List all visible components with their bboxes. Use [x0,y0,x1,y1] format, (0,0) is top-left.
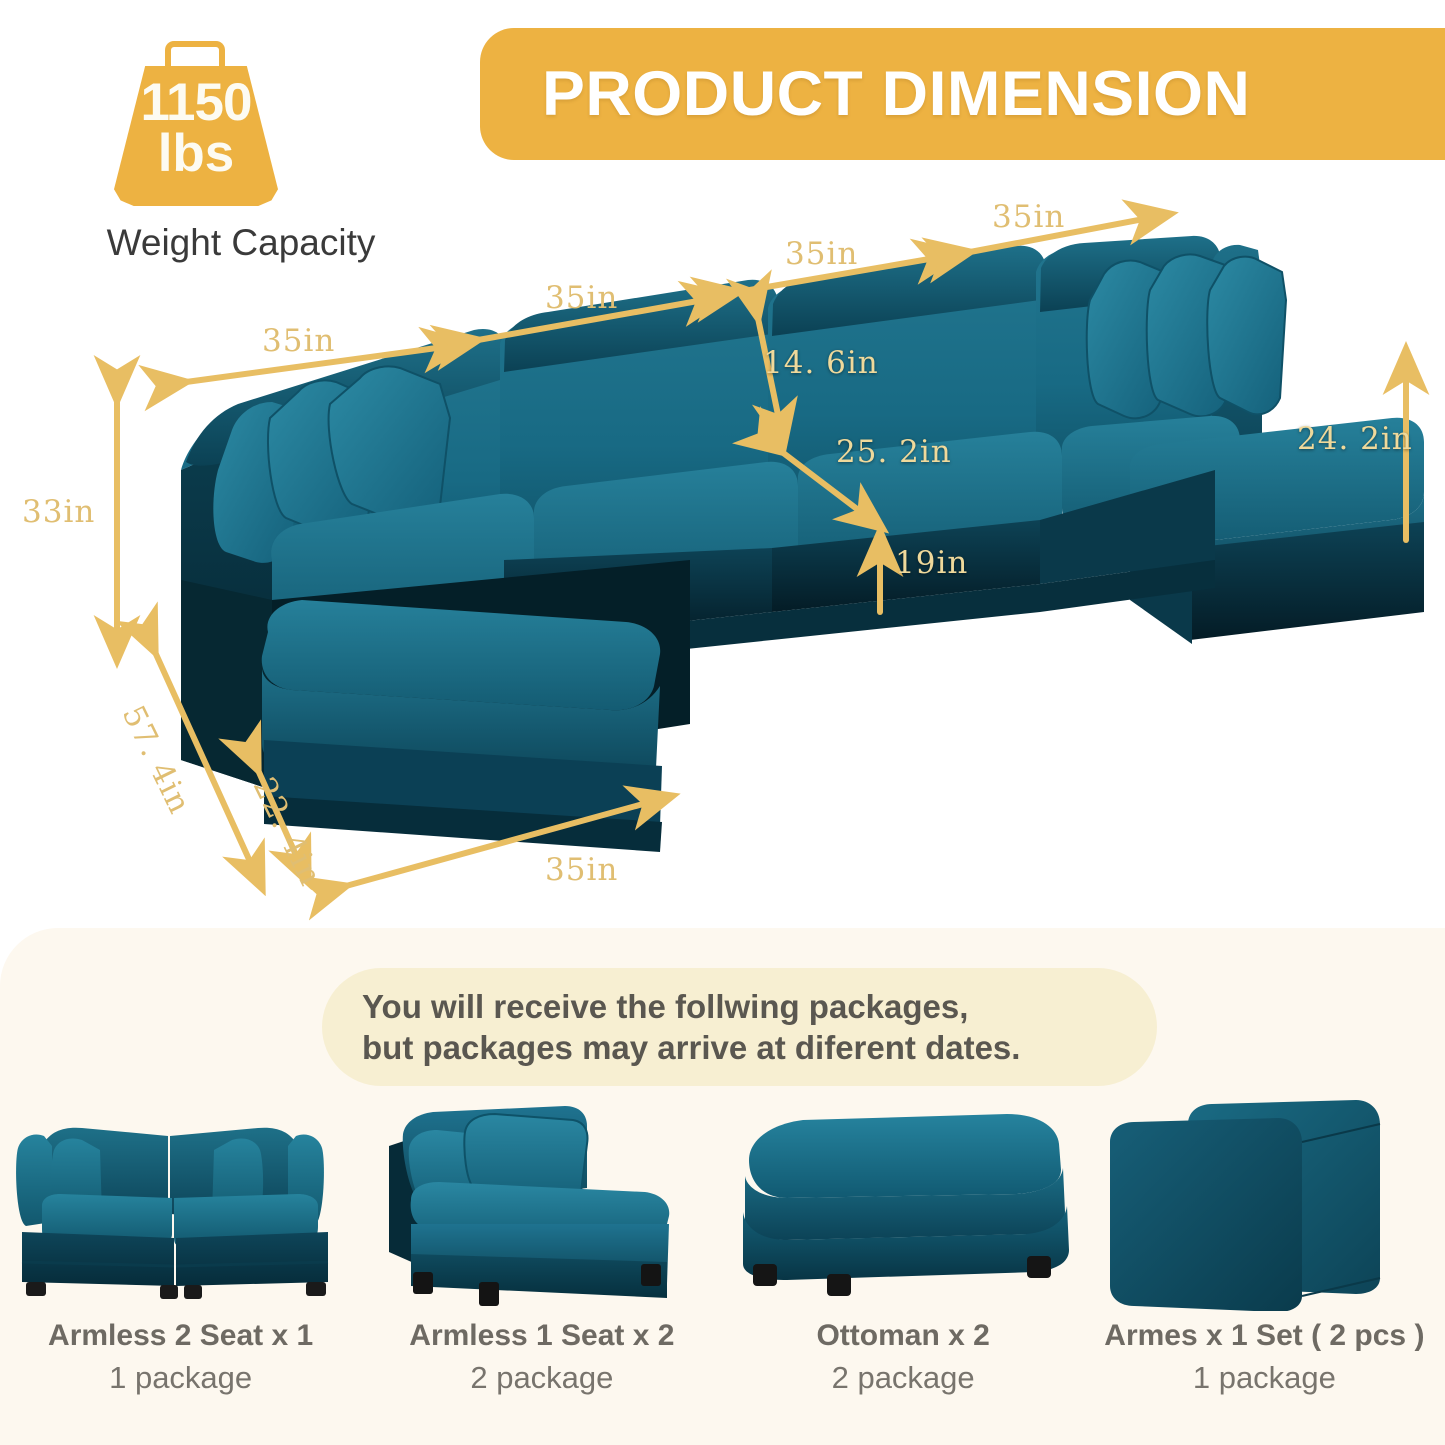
weight-capacity-unit: lbs [106,128,286,180]
dim-back-right-module-width: 35in [992,199,1065,235]
package-thumbnail-list: Armless 2 Seat x 1 1 package [0,1096,1445,1436]
weight-capacity-caption: Weight Capacity [56,222,426,264]
package-title: Armes x 1 Set ( 2 pcs ) [1104,1319,1424,1353]
package-item-arms: Armes x 1 Set ( 2 pcs ) 1 package [1084,1096,1445,1436]
package-title: Armless 1 Seat x 2 [409,1319,674,1353]
armless-1-seat-chair-icon [369,1096,714,1311]
dim-back-left-module-width: 35in [262,323,335,359]
arm-panels-icon [1092,1096,1437,1311]
weight-capacity-value: 1150 [106,78,286,128]
packages-note-line-2: but packages may arrive at diferent date… [322,1027,1157,1068]
ottoman-icon [731,1096,1076,1311]
package-count: 1 package [109,1360,252,1396]
dim-ottoman-width: 35in [545,852,618,888]
dim-back-second-module-width: 35in [545,280,618,316]
dim-overall-height: 33in [22,494,95,530]
product-dimension-banner: PRODUCT DIMENSION [480,28,1445,160]
weight-kettlebell-icon: 1150 lbs [106,36,286,211]
package-title: Armless 2 Seat x 1 [48,1319,313,1353]
packages-section: You will receive the follwing packages, … [0,928,1445,1445]
armless-2-seat-sofa-icon [8,1096,353,1311]
package-count: 1 package [1193,1360,1336,1396]
packages-note-banner: You will receive the follwing packages, … [322,968,1157,1086]
package-title: Ottoman x 2 [816,1319,989,1353]
package-item-ottoman: Ottoman x 2 2 package [723,1096,1084,1436]
package-item-armless-1-seat: Armless 1 Seat x 2 2 package [361,1096,722,1436]
dim-seat-depth: 25. 2in [836,434,952,470]
packages-note-line-1: You will receive the follwing packages, [322,986,1157,1027]
weight-capacity-badge: 1150 lbs Weight Capacity [96,36,396,266]
product-dimension-section: 35in 35in 35in 35in 14. 6in 25. 2in 19in… [0,0,1445,928]
page-title: PRODUCT DIMENSION [542,58,1250,130]
dim-seat-back-height: 14. 6in [763,345,879,381]
dim-overall-right-height: 24. 2in [1297,421,1413,457]
package-count: 2 package [832,1360,975,1396]
package-item-armless-2-seat: Armless 2 Seat x 1 1 package [0,1096,361,1436]
package-count: 2 package [470,1360,613,1396]
dim-seat-height: 19in [895,545,968,581]
dim-back-third-module-width: 35in [785,236,858,272]
